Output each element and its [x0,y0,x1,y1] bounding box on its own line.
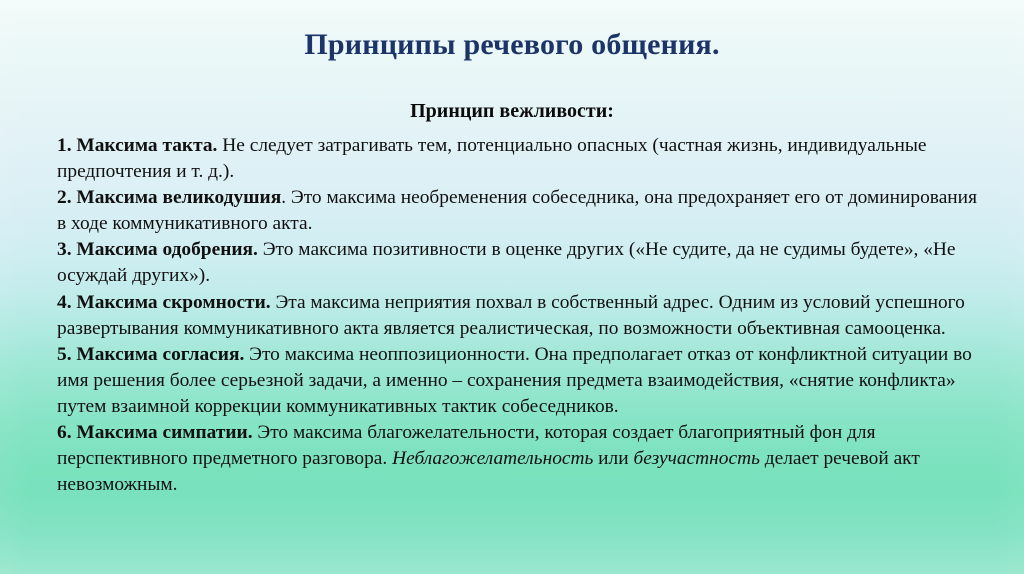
maxim-text-6b: или [593,448,633,469]
slide-title: Принципы речевого общения. [0,26,1024,64]
maxim-paragraph-6: 6. Максима симпатии. Это максима благоже… [57,420,987,498]
slide-subtitle: Принцип вежливости: [0,98,1024,124]
maxim-paragraph-2: 2. Максима великодушия. Это максима необ… [57,185,987,237]
maxim-emphasis-1: Неблагожелательность [392,448,593,469]
maxim-paragraph-4: 4. Максима скромности. Эта максима непри… [57,290,987,342]
maxim-lead-3: 3. Максима одобрения. [57,239,258,260]
maxim-paragraph-1: 1. Максима такта. Не следует затрагивать… [57,133,987,185]
presentation-slide: Принципы речевого общения. Принцип вежли… [0,0,1024,574]
maxim-lead-4: 4. Максима скромности. [57,292,271,313]
slide-body: 1. Максима такта. Не следует затрагивать… [57,133,987,498]
maxim-lead-5: 5. Максима согласия. [57,344,244,365]
maxim-lead-2: 2. Максима великодушия [57,187,281,208]
maxim-paragraph-3: 3. Максима одобрения. Это максима позити… [57,237,987,289]
maxim-emphasis-2: безучастность [633,448,759,469]
maxim-lead-6: 6. Максима симпатии. [57,422,253,443]
maxim-paragraph-5: 5. Максима согласия. Это максима неоппоз… [57,342,987,420]
maxim-lead-1: 1. Максима такта. [57,135,217,156]
